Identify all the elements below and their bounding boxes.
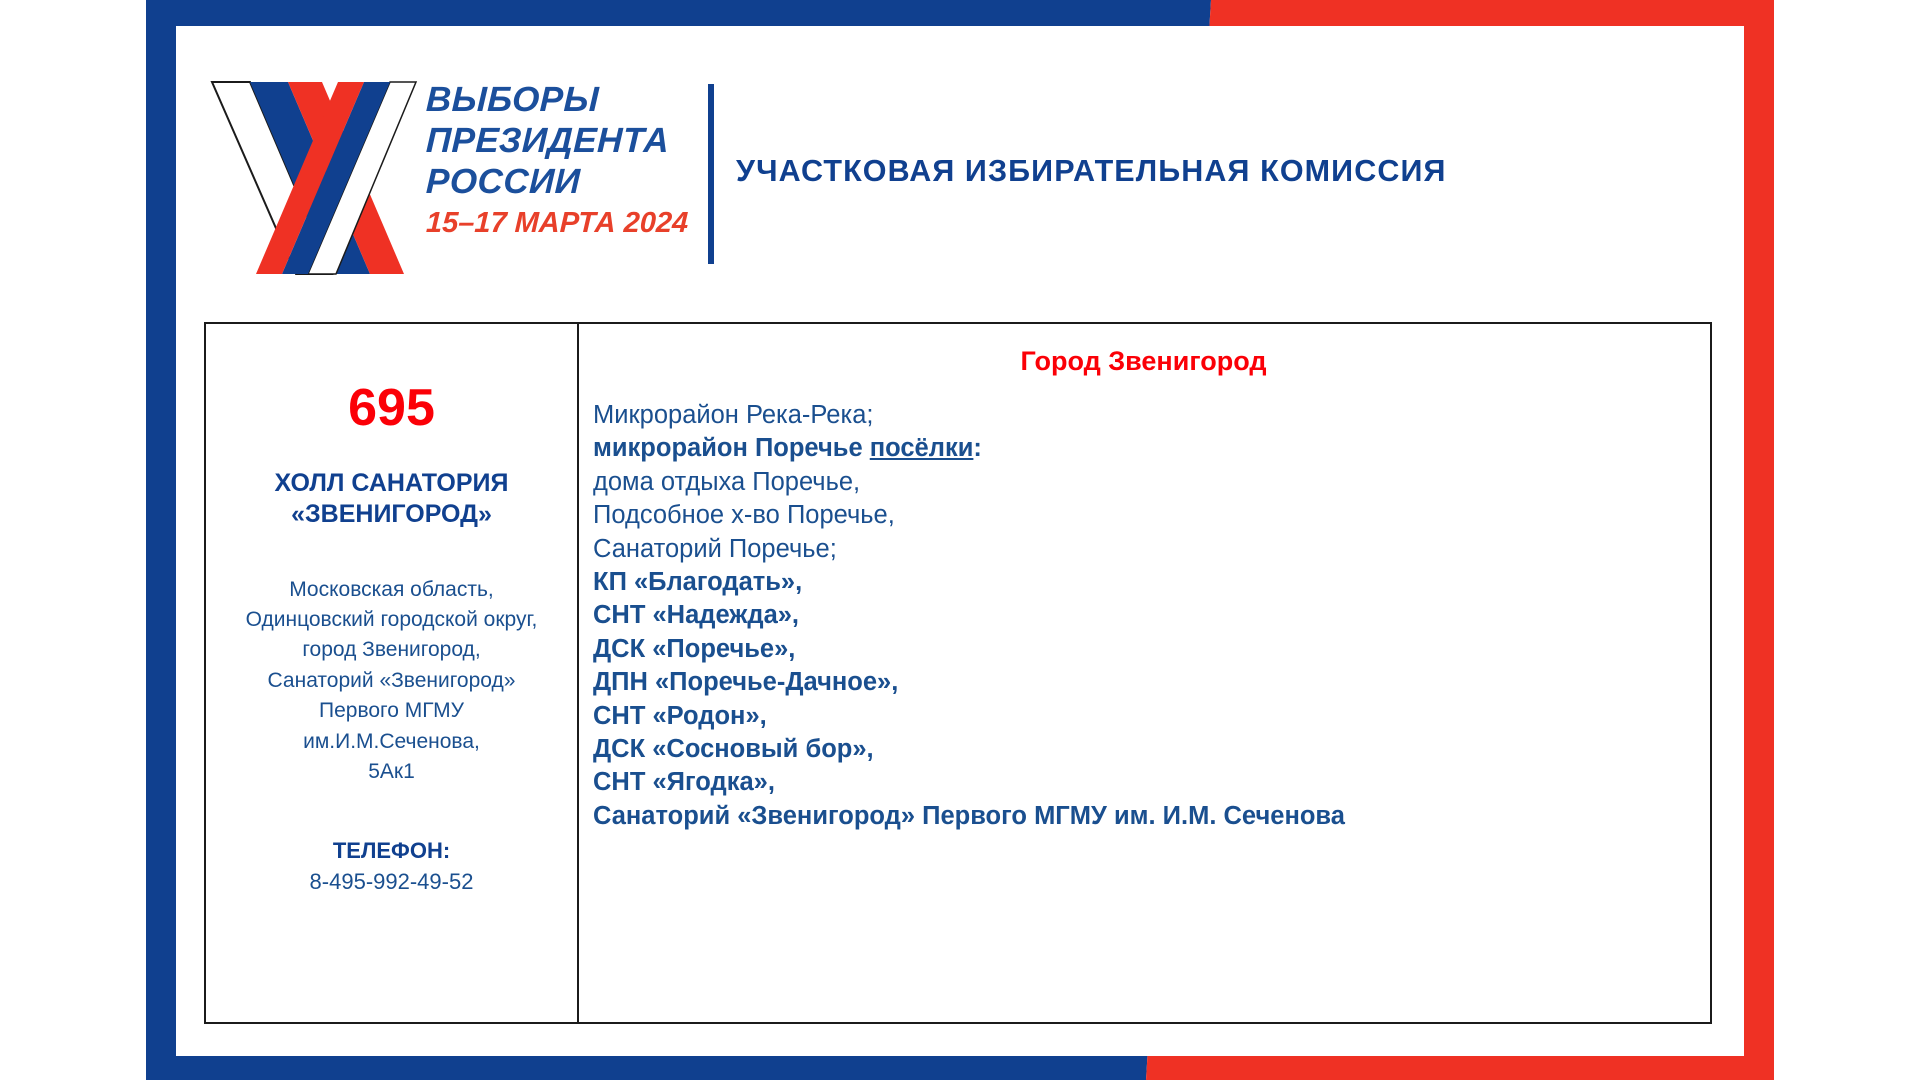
territory-street-line: Микрорайон Река-Река; — [593, 399, 1694, 432]
territory-street-line: Санаторий Поречье; — [593, 533, 1694, 566]
commission-address-line: им.И.М.Сеченова, — [246, 727, 538, 757]
commission-address: Московская область,Одинцовский городской… — [246, 575, 538, 788]
logo-line-2: ПРЕЗИДЕНТА — [425, 123, 676, 158]
territory-street-line: СНТ «Родон», — [593, 700, 1694, 733]
commission-place-line-1: ХОЛЛ САНАТОРИЯ — [275, 468, 509, 499]
election-logo: ВЫБОРЫ ПРЕЗИДЕНТА РОССИИ 15–17 МАРТА 202… — [198, 68, 668, 288]
territory-street-line: ДСК «Поречье», — [593, 633, 1694, 666]
logo-line-3: РОССИИ — [425, 164, 676, 199]
commission-place: ХОЛЛ САНАТОРИЯ «ЗВЕНИГОРОД» — [275, 468, 509, 531]
territory-street-line: Подсобное х-во Поречье, — [593, 499, 1694, 532]
commission-info-table: 695 ХОЛЛ САНАТОРИЯ «ЗВЕНИГОРОД» Московск… — [204, 322, 1712, 1024]
commission-address-line: 5Ак1 — [246, 757, 538, 787]
commission-address-line: Одинцовский городской округ, — [246, 605, 538, 635]
commission-address-line: Первого МГМУ — [246, 696, 538, 726]
territory-street-line: СНТ «Надежда», — [593, 599, 1694, 632]
page-title: УЧАСТКОВАЯ ИЗБИРАТЕЛЬНАЯ КОМИССИЯ — [736, 26, 1736, 316]
territory-cell: Город Звенигород Микрорайон Река-Река;ми… — [579, 324, 1710, 1022]
commission-details-cell: 695 ХОЛЛ САНАТОРИЯ «ЗВЕНИГОРОД» Московск… — [206, 324, 579, 1022]
territory-street-line: ДСК «Сосновый бор», — [593, 733, 1694, 766]
commission-address-line: Санаторий «Звенигород» — [246, 666, 538, 696]
phone-label: ТЕЛЕФОН: — [333, 838, 450, 864]
page-title-text: УЧАСТКОВАЯ ИЗБИРАТЕЛЬНАЯ КОМИССИЯ — [736, 154, 1447, 189]
territory-street-list: Микрорайон Река-Река;микрорайон Поречье … — [593, 399, 1694, 833]
poster-header: ВЫБОРЫ ПРЕЗИДЕНТА РОССИИ 15–17 МАРТА 202… — [176, 26, 1744, 316]
commission-address-line: город Звенигород, — [246, 635, 538, 665]
territory-street-line: Санаторий «Звенигород» Первого МГМУ им. … — [593, 800, 1694, 833]
territory-street-line: ДПН «Поречье-Дачное», — [593, 666, 1694, 699]
territory-street-line: КП «Благодать», — [593, 566, 1694, 599]
commission-number: 695 — [348, 382, 435, 434]
commission-place-line-2: «ЗВЕНИГОРОД» — [275, 499, 509, 530]
territory-street-line: дома отдыха Поречье, — [593, 466, 1694, 499]
poster-card: ВЫБОРЫ ПРЕЗИДЕНТА РОССИИ 15–17 МАРТА 202… — [176, 26, 1744, 1056]
phone-value: 8-495-992-49-52 — [310, 869, 474, 895]
logo-wordmark: ВЫБОРЫ ПРЕЗИДЕНТА РОССИИ 15–17 МАРТА 202… — [426, 82, 676, 240]
header-divider — [708, 84, 714, 264]
city-title: Город Звенигород — [593, 346, 1694, 377]
commission-address-line: Московская область, — [246, 575, 538, 605]
underlined-term: посёлки — [870, 434, 974, 462]
election-poster: ВЫБОРЫ ПРЕЗИДЕНТА РОССИИ 15–17 МАРТА 202… — [0, 0, 1920, 1080]
logo-date: 15–17 МАРТА 2024 — [425, 207, 676, 240]
territory-street-line: СНТ «Ягодка», — [593, 766, 1694, 799]
logo-line-1: ВЫБОРЫ — [425, 82, 676, 117]
territory-street-line: микрорайон Поречье посёлки: — [593, 432, 1694, 465]
russian-flag-v-emblem-icon — [204, 78, 424, 278]
